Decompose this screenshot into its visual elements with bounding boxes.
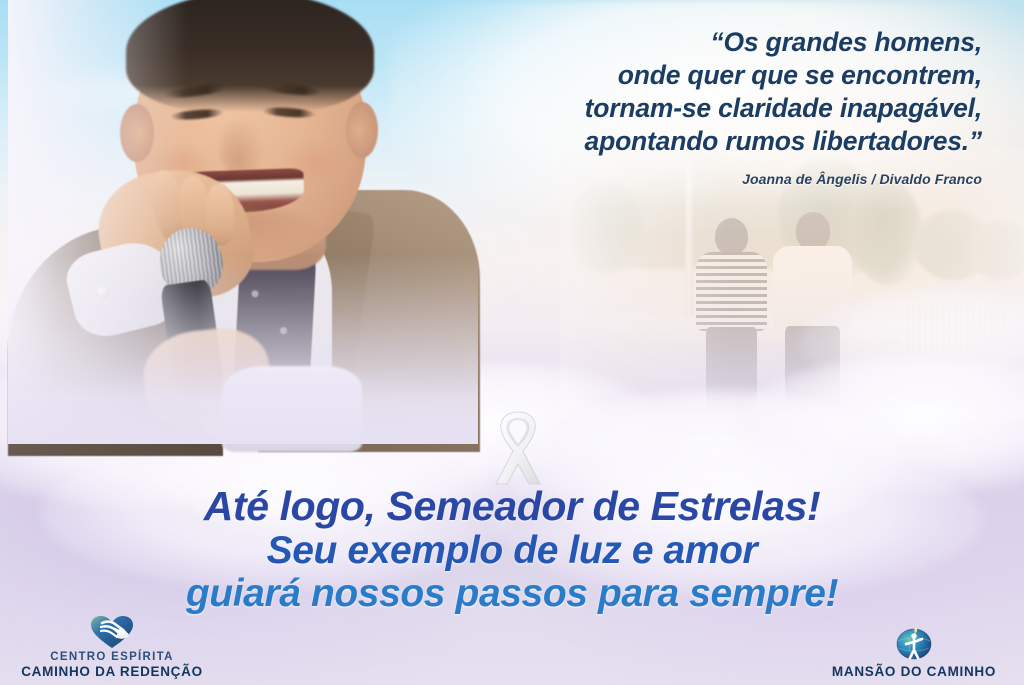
quote-attribution: Joanna de Ângelis / Divaldo Franco: [422, 171, 982, 187]
quote-line-3: tornam-se claridade inapagável,: [422, 92, 982, 125]
headline-block: Até logo, Semeador de Estrelas! Seu exem…: [0, 486, 1024, 613]
headline-line-2: Seu exemplo de luz e amor: [0, 531, 1024, 570]
memorial-poster: “Os grandes homens, onde quer que se enc…: [0, 0, 1024, 685]
logo-mansao-do-caminho: MANSÃO DO CAMINHO: [812, 624, 1016, 679]
quote-line-2: onde quer que se encontrem,: [422, 59, 982, 92]
logo-left-line-1: CENTRO ESPÍRITA: [50, 651, 173, 664]
white-ribbon-icon: [480, 406, 556, 488]
heart-hands-icon: [89, 615, 135, 649]
portrait-fade-overlay: [8, 0, 478, 444]
portrait-divaldo-franco: [8, 0, 478, 444]
logo-right-line-2: MANSÃO DO CAMINHO: [832, 664, 996, 679]
quote-line-1: “Os grandes homens,: [422, 26, 982, 59]
quote-block: “Os grandes homens, onde quer que se enc…: [422, 26, 982, 187]
headline-line-1: Até logo, Semeador de Estrelas!: [0, 486, 1024, 527]
globe-figure-flame-icon: [894, 624, 934, 662]
headline-line-3: guiará nossos passos para sempre!: [0, 574, 1024, 613]
quote-line-4: apontando rumos libertadores.”: [422, 125, 982, 158]
logo-left-line-2: CAMINHO DA REDENÇÃO: [21, 664, 203, 679]
logo-centro-espirita-caminho-da-redencao: CENTRO ESPÍRITA CAMINHO DA REDENÇÃO: [14, 615, 210, 679]
